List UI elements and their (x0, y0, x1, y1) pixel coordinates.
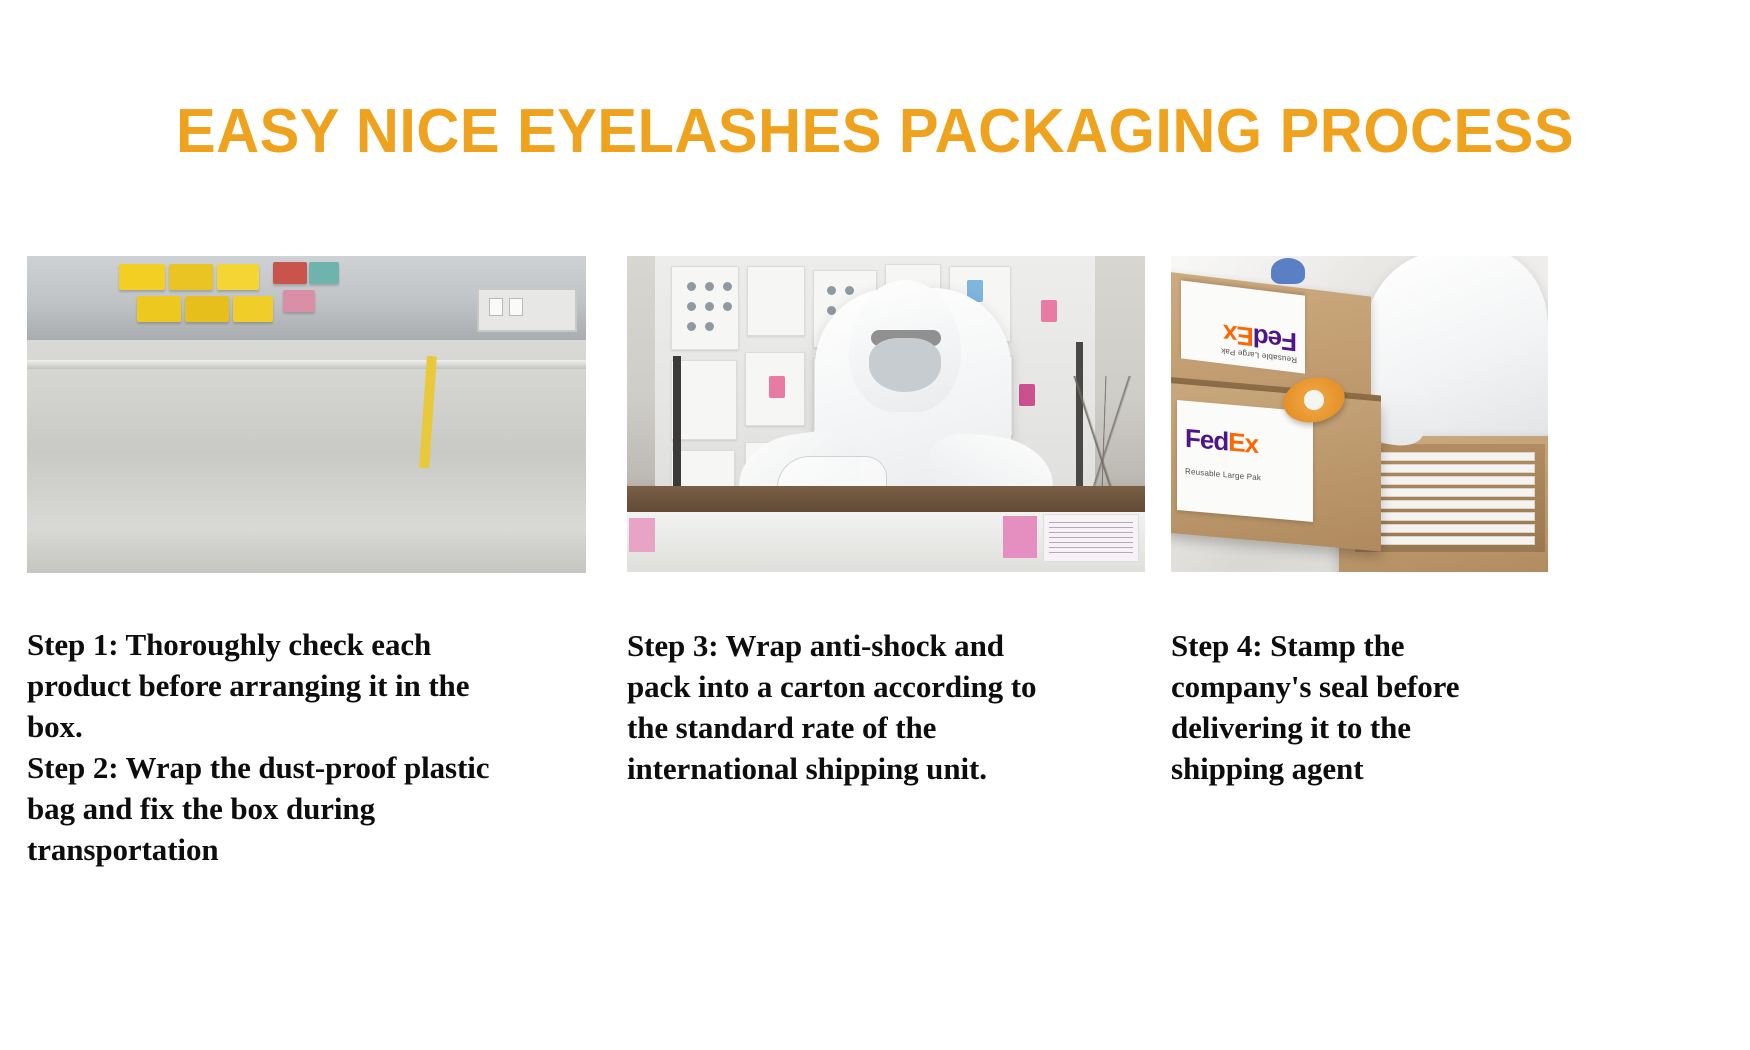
caption-line: shipping agent (1171, 748, 1548, 789)
wall-socket (509, 298, 523, 316)
product-box-row (1367, 488, 1535, 497)
note-dot (827, 286, 836, 295)
storage-bin-yellow (137, 296, 181, 322)
storage-bin-yellow (169, 264, 213, 290)
storage-bin-yellow (217, 264, 259, 290)
caption-line: international shipping unit. (627, 748, 1145, 789)
product-box-row (1367, 476, 1535, 485)
fedex-label-upper: Reusable Large Pak FedEx (1181, 280, 1305, 373)
note-dot (723, 282, 732, 291)
caption-line: Step 1: Thoroughly check each (27, 624, 586, 665)
caption-line: delivering it to the (1171, 707, 1548, 748)
note-dot (687, 322, 696, 331)
storage-bin-teal (309, 262, 339, 284)
storage-bin-yellow (233, 296, 273, 322)
step-column-2: Step 3: Wrap anti-shock and pack into a … (627, 256, 1145, 789)
caption-line: pack into a carton according to (627, 666, 1145, 707)
caption-line: Step 4: Stamp the (1171, 625, 1548, 666)
caption-line: box. (27, 706, 586, 747)
note-dot (845, 286, 854, 295)
caption-line: Step 2: Wrap the dust-proof plastic (27, 747, 586, 788)
pink-pad (1003, 516, 1037, 558)
product-box-row (1367, 452, 1535, 461)
overhead-rod (27, 360, 586, 369)
note-dot (687, 302, 696, 311)
caption-line: company's seal before (1171, 666, 1548, 707)
product-box-row (1367, 512, 1535, 521)
pinned-note (747, 266, 805, 336)
step-3-photo (627, 256, 1145, 572)
storage-bin-yellow (185, 296, 229, 322)
page-title: EASY NICE EYELASHES PACKAGING PROCESS (35, 96, 1715, 168)
blue-cap (1271, 258, 1305, 284)
caption-line: product before arranging it in the (27, 665, 586, 706)
step-4-caption: Step 4: Stamp the company's seal before … (1171, 625, 1548, 789)
step-3-caption: Step 3: Wrap anti-shock and pack into a … (627, 625, 1145, 789)
step-1-caption: Step 1: Thoroughly check each product be… (27, 624, 586, 870)
photo-3-scene: Reusable Large Pak FedEx FedEx Reusable … (1171, 256, 1548, 572)
storage-bin-pink (283, 290, 315, 312)
caption-line: transportation (27, 829, 586, 870)
product-box-row (1367, 464, 1535, 473)
step-1-photo (27, 256, 586, 573)
steps-columns: Step 1: Thoroughly check each product be… (27, 256, 1724, 896)
step-column-1: Step 1: Thoroughly check each product be… (27, 256, 586, 870)
face-mask (869, 338, 941, 392)
slide-canvas: EASY NICE EYELASHES PACKAGING PROCESS (0, 0, 1750, 1050)
storage-bin-yellow (119, 264, 165, 290)
note-dot (705, 302, 714, 311)
sticky-tag (1041, 300, 1057, 322)
caption-line: Step 3: Wrap anti-shock and (627, 625, 1145, 666)
note-dot (705, 282, 714, 291)
sticky-tag (769, 376, 785, 398)
product-box-row (1367, 524, 1535, 533)
paper-lines (1049, 522, 1133, 554)
note-dot (723, 302, 732, 311)
step-4-photo: Reusable Large Pak FedEx FedEx Reusable … (1171, 256, 1548, 572)
step-column-3: Reusable Large Pak FedEx FedEx Reusable … (1171, 256, 1548, 789)
fedex-sublabel: Reusable Large Pak (1185, 467, 1313, 487)
caption-line: the standard rate of the (627, 707, 1145, 748)
pink-pad (629, 518, 655, 552)
storage-bin-red (273, 262, 307, 284)
photo-1-scene (27, 256, 586, 573)
wall-socket (489, 298, 503, 316)
fedex-logo-text: FedEx (1185, 425, 1313, 462)
product-box-row (1367, 536, 1535, 545)
caption-line: bag and fix the box during (27, 788, 586, 829)
photo-2-scene (627, 256, 1145, 572)
floor (27, 531, 586, 573)
sticky-tag (1019, 384, 1035, 406)
note-dot (705, 322, 714, 331)
product-box-row (1367, 500, 1535, 509)
note-dot (687, 282, 696, 291)
